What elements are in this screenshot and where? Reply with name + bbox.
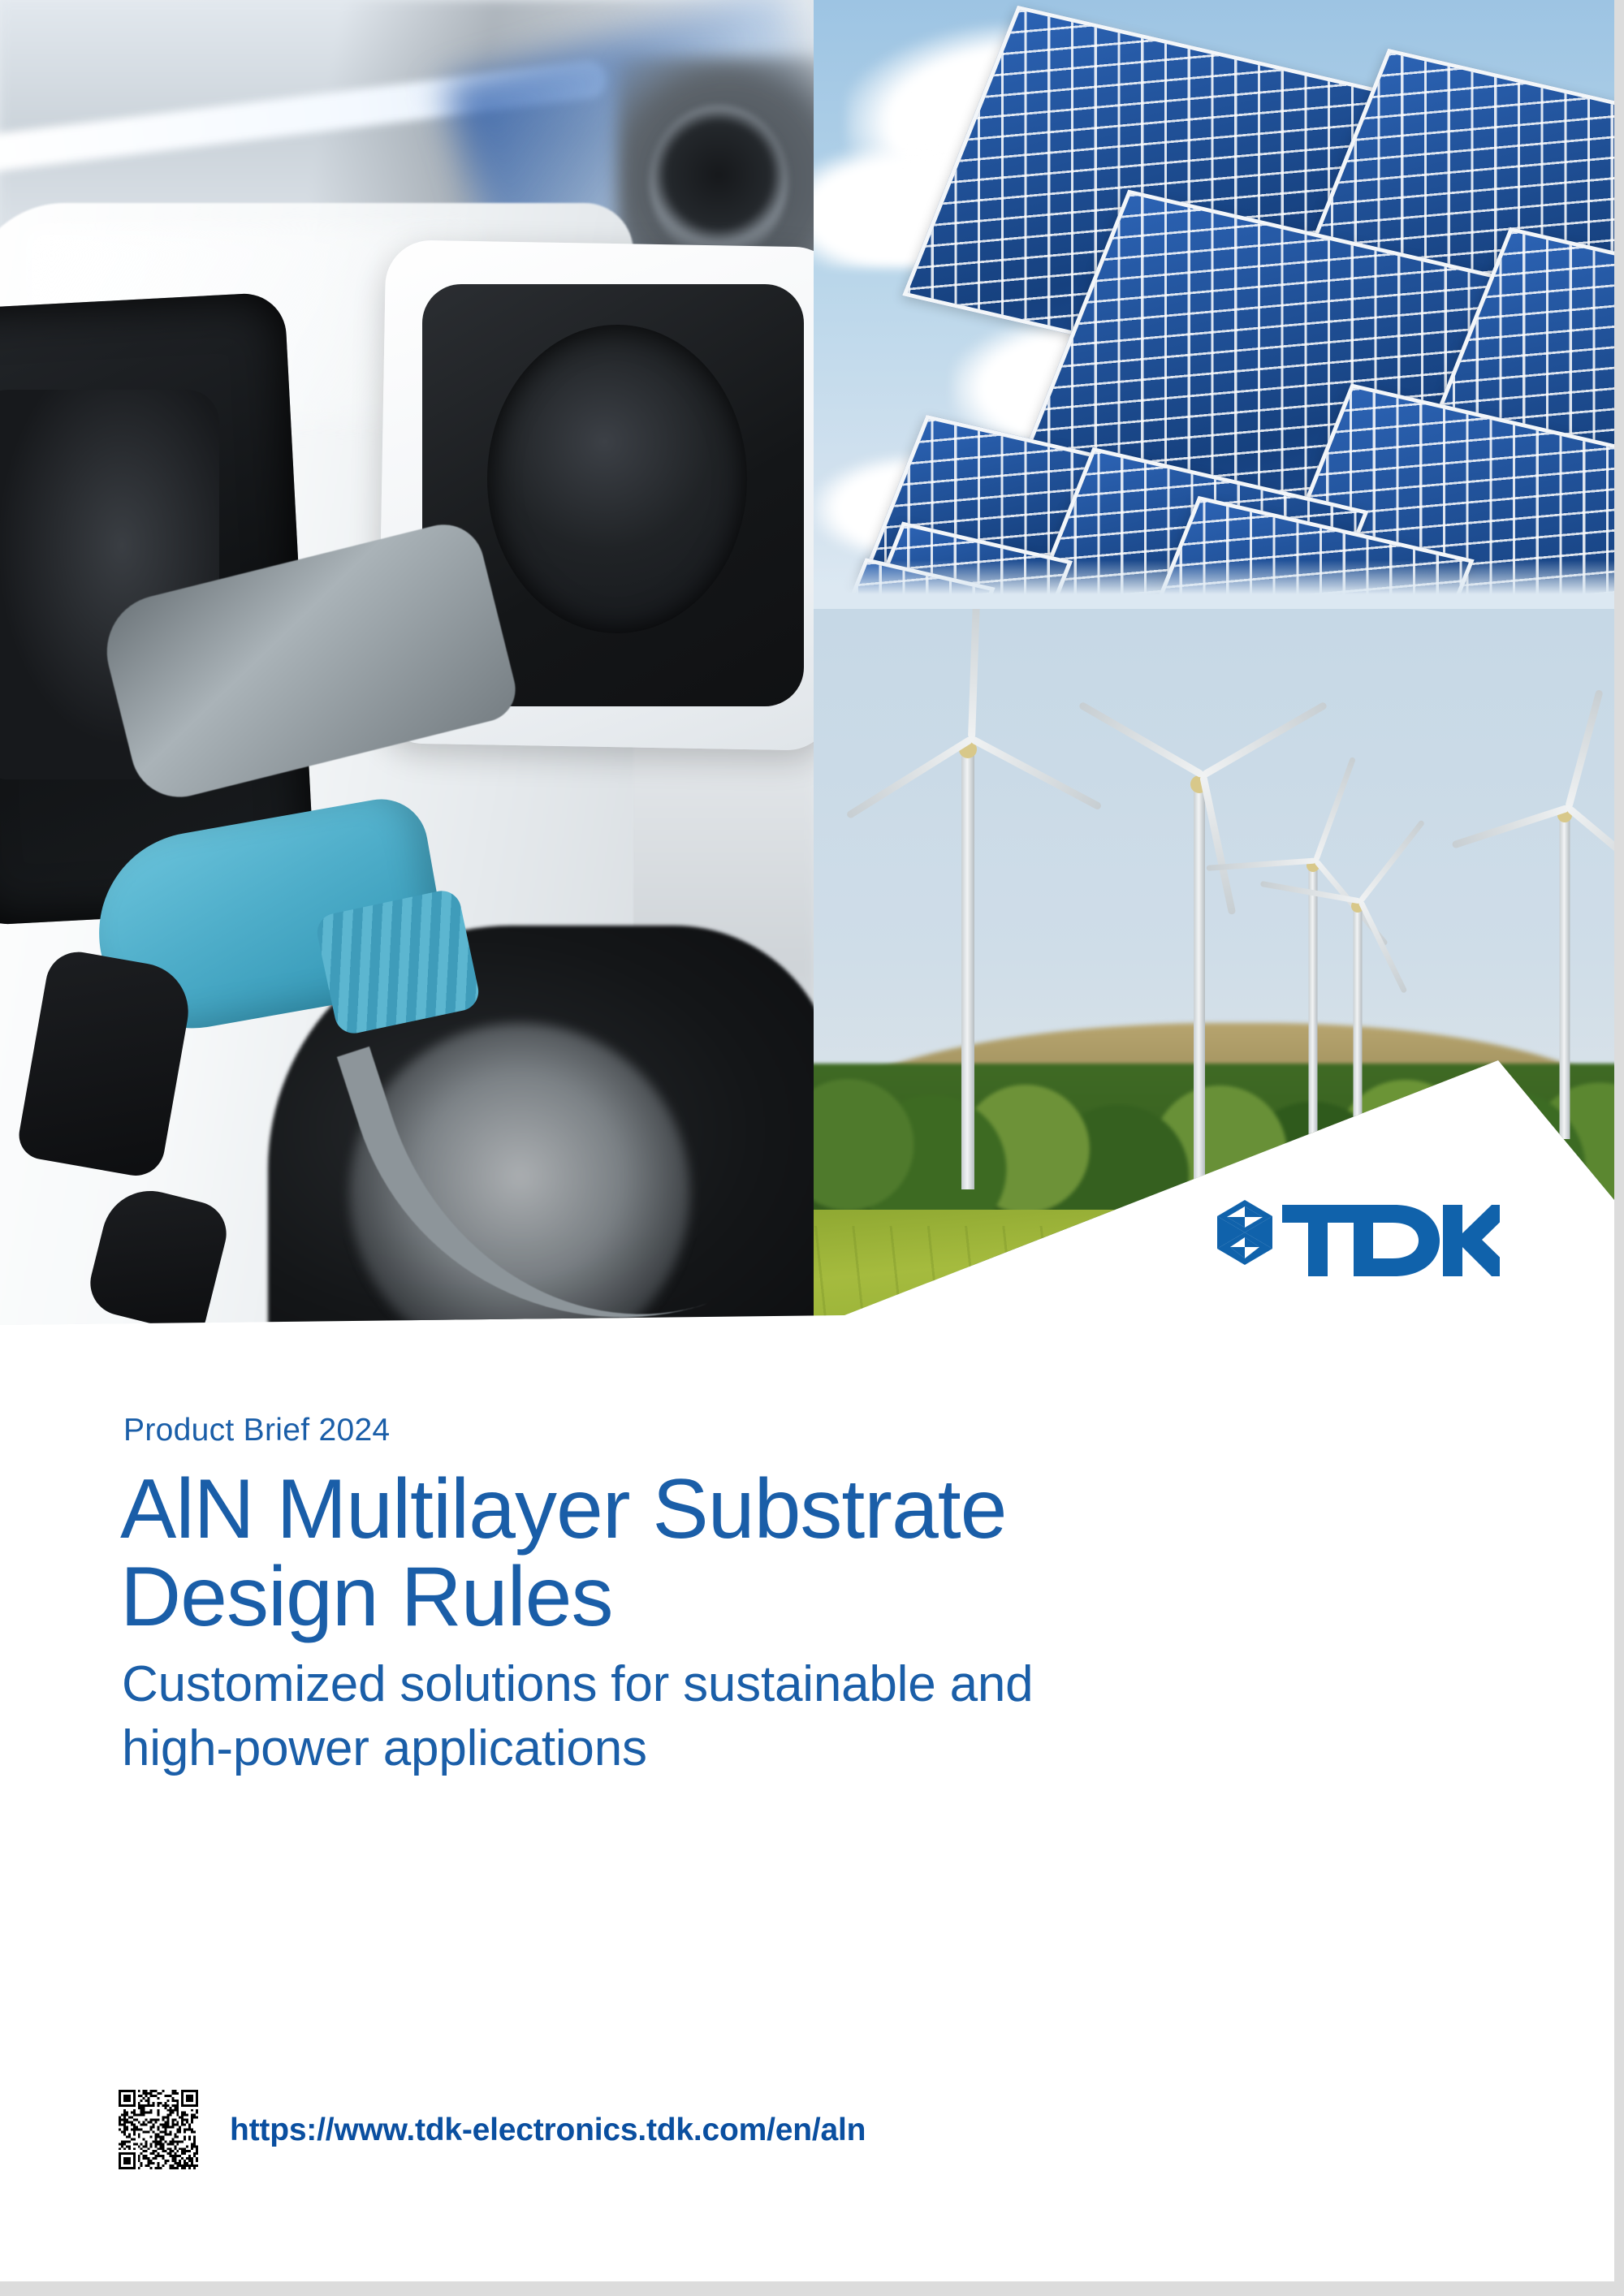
tdk-logo: [1199, 1195, 1500, 1286]
product-brief-kicker: Product Brief 2024: [123, 1413, 390, 1448]
ev-dark-circle-blur: [650, 106, 788, 260]
page-subtitle: Customized solutions for sustainable and…: [122, 1652, 1033, 1781]
page-title: AlN Multilayer Substrate Design Rules: [120, 1465, 1007, 1641]
solar-panel-photo: [814, 0, 1614, 609]
turbine-blade: [1358, 819, 1425, 903]
turbine-blade: [970, 736, 1102, 810]
wind-turbine: [919, 731, 1017, 1185]
turbine-blade: [968, 609, 980, 739]
wind-turbine: [1155, 767, 1244, 1267]
turbine-blade: [1201, 701, 1328, 779]
turbine-blade: [1358, 900, 1407, 993]
turbine-blade: [845, 736, 973, 819]
page-subtitle-line-2: high-power applications: [122, 1716, 1033, 1780]
page-subtitle-line-1: Customized solutions for sustainable and: [122, 1652, 1033, 1716]
turbine-blade: [1566, 805, 1614, 889]
page-title-line-2: Design Rules: [120, 1553, 1007, 1641]
product-brief-page: Product Brief 2024 AlN Multilayer Substr…: [0, 0, 1614, 2281]
wind-turbine: [1321, 893, 1394, 1202]
turbine-mast: [1354, 906, 1363, 1206]
page-title-line-1: AlN Multilayer Substrate: [120, 1465, 1007, 1553]
solar-ground-haze: [814, 560, 1614, 609]
ev-charging-photo: [0, 0, 814, 1331]
turbine-blade: [1078, 701, 1205, 779]
turbine-blade: [1565, 689, 1604, 809]
turbine-blade: [1313, 757, 1356, 861]
hero-image-band: [0, 0, 1614, 1331]
qr-code[interactable]: [119, 2090, 198, 2169]
turbine-mast: [1309, 865, 1318, 1190]
ev-charge-socket: [487, 325, 747, 633]
product-url-link[interactable]: https://www.tdk-electronics.tdk.com/en/a…: [230, 2113, 866, 2148]
turbine-mast: [961, 747, 974, 1189]
wind-turbine: [1520, 800, 1609, 1133]
turbine-blade: [1451, 805, 1569, 849]
turbine-mast: [1560, 814, 1570, 1139]
